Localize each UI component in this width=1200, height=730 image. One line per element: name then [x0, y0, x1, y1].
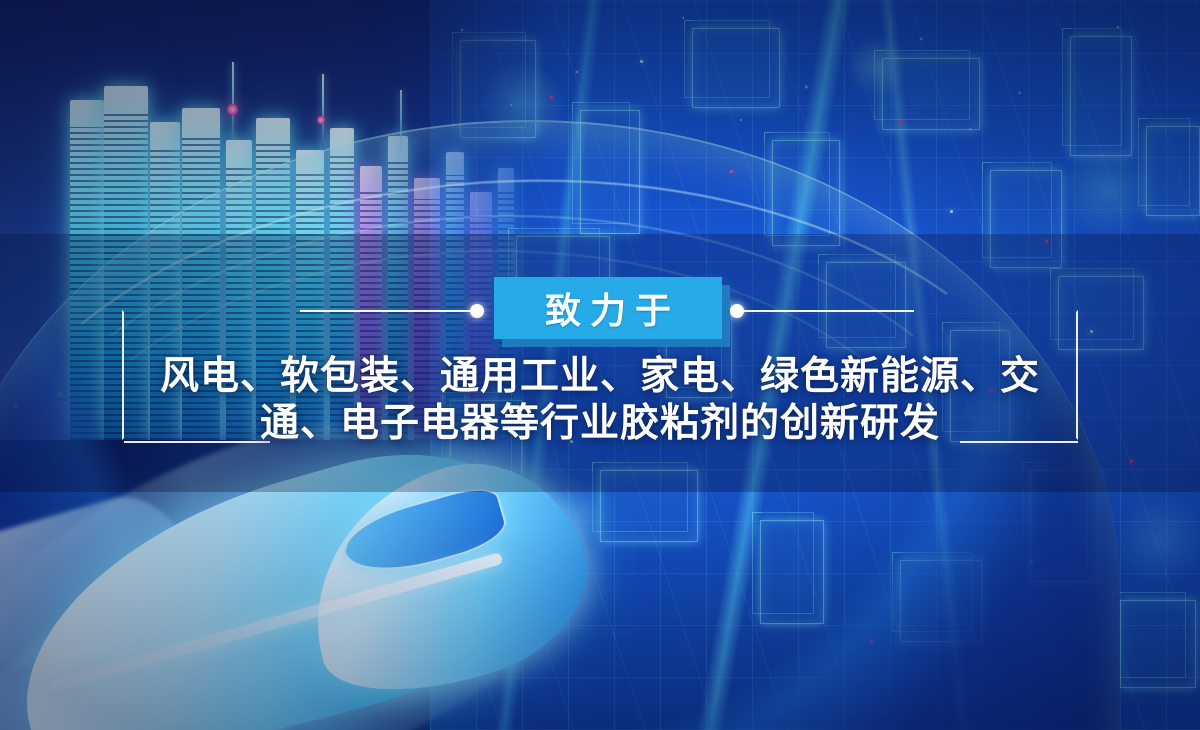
connector-dot-right: [730, 304, 744, 318]
banner-root: 致力于 风电、软包装、通用工业、家电、绿色新能源、交 通、电子电器等行业胶粘剂的…: [0, 0, 1200, 730]
connector-dot-left: [470, 304, 484, 318]
headline-badge: 致力于: [494, 277, 722, 339]
badge-label: 致力于: [536, 282, 680, 334]
banner-content: 致力于 风电、软包装、通用工业、家电、绿色新能源、交 通、电子电器等行业胶粘剂的…: [0, 0, 1200, 730]
headline-block: 风电、软包装、通用工业、家电、绿色新能源、交 通、电子电器等行业胶粘剂的创新研发: [122, 352, 1078, 448]
connector-line-right: [742, 310, 914, 312]
headline-line-1: 风电、软包装、通用工业、家电、绿色新能源、交: [122, 352, 1078, 401]
connector-line-left: [300, 310, 472, 312]
badge-plate: 致力于: [494, 277, 722, 339]
headline-line-2: 通、电子电器等行业胶粘剂的创新研发: [122, 399, 1078, 448]
